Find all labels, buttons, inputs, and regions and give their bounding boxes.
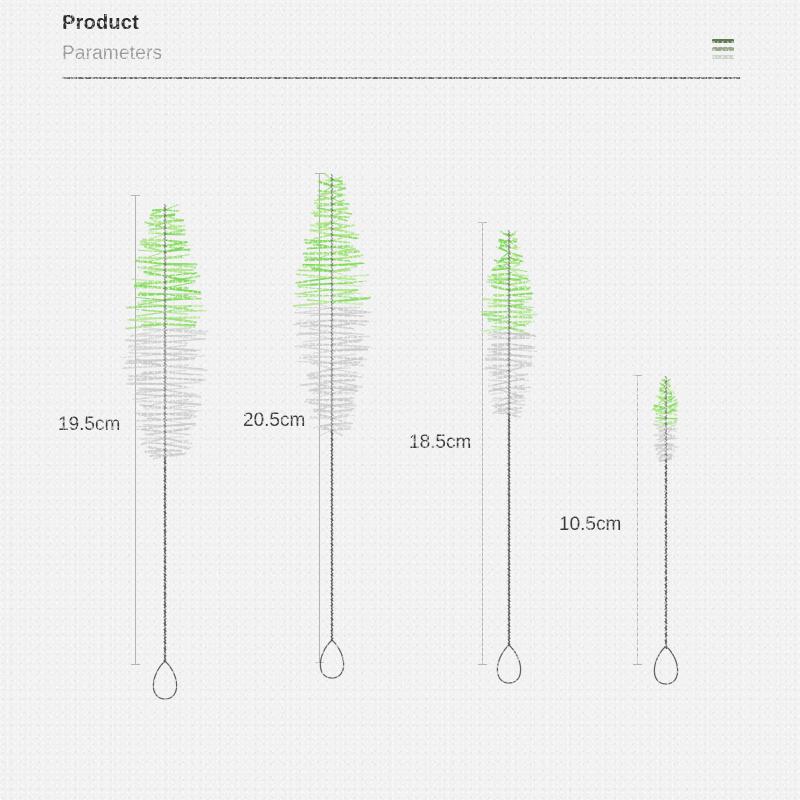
brush-2 bbox=[272, 168, 392, 715]
brush-3 bbox=[449, 218, 569, 720]
product-parameters-page: Product Parameters 19.5cm20.5cm18.5cm10.… bbox=[0, 0, 800, 800]
handle-loop bbox=[654, 646, 677, 684]
page-title: Product bbox=[62, 12, 139, 35]
brush-4 bbox=[606, 372, 726, 721]
handle-loop bbox=[320, 640, 343, 678]
menu-bar-3 bbox=[712, 55, 734, 59]
page-subtitle: Parameters bbox=[62, 43, 162, 65]
menu-bar-2 bbox=[712, 47, 734, 51]
handle-loop bbox=[497, 645, 520, 683]
menu-bar-1 bbox=[712, 39, 734, 43]
hamburger-menu-icon[interactable] bbox=[712, 39, 734, 59]
handle-loop bbox=[153, 661, 176, 699]
brush-1 bbox=[105, 186, 225, 736]
header-divider bbox=[62, 77, 740, 79]
